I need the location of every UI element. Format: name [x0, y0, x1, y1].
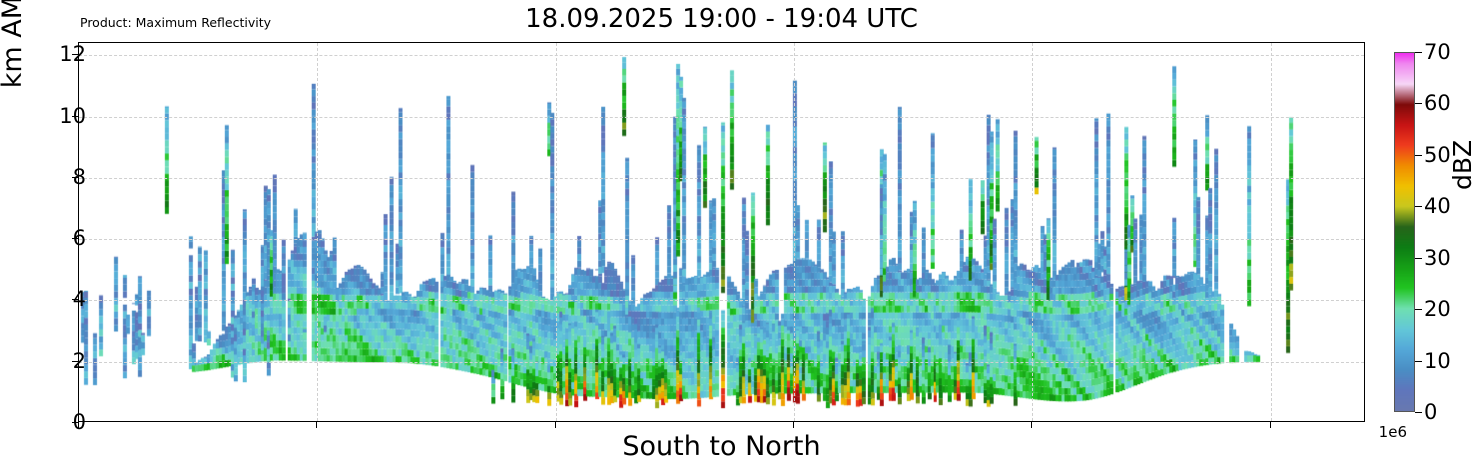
x-tick-mark — [793, 422, 794, 428]
colorbar-tick-mark — [1415, 206, 1422, 207]
y-tick-label-6: 6 — [73, 228, 86, 249]
plot-area — [78, 42, 1365, 422]
colorbar-tick-label-40: 40 — [1424, 196, 1451, 217]
y-tick-label-0: 0 — [73, 412, 86, 433]
colorbar-tick-mark — [1415, 361, 1422, 362]
y-tick-label-4: 4 — [73, 289, 86, 310]
colorbar-tick-label-50: 50 — [1424, 145, 1451, 166]
colorbar-tick-mark — [1415, 103, 1422, 104]
colorbar-gradient — [1395, 53, 1414, 411]
colorbar-tick-mark — [1415, 258, 1422, 259]
colorbar-tick-label-0: 0 — [1424, 402, 1437, 423]
colorbar-tick-label-20: 20 — [1424, 299, 1451, 320]
y-tick-label-2: 2 — [73, 351, 86, 372]
colorbar — [1394, 52, 1415, 412]
page-title: 18.09.2025 19:00 - 19:04 UTC — [78, 4, 1365, 34]
colorbar-tick-mark — [1415, 412, 1422, 413]
y-axis-label: km AMSL — [0, 0, 28, 126]
colorbar-tick-label-30: 30 — [1424, 248, 1451, 269]
x-tick-mark — [1031, 422, 1032, 428]
x-tick-mark — [78, 422, 79, 428]
x-tick-mark — [555, 422, 556, 428]
colorbar-tick-mark — [1415, 52, 1422, 53]
x-tick-mark — [1270, 422, 1271, 428]
colorbar-tick-mark — [1415, 155, 1422, 156]
colorbar-tick-label-60: 60 — [1424, 93, 1451, 114]
reflectivity-heatmap — [79, 43, 1364, 421]
y-tick-label-10: 10 — [59, 106, 86, 127]
colorbar-title: dBZ — [1449, 140, 1476, 190]
colorbar-tick-mark — [1415, 309, 1422, 310]
x-axis-label: South to North — [78, 432, 1365, 462]
x-axis-offset-label: 1e6 — [1379, 424, 1407, 441]
radar-cross-section-figure: Product: Maximum Reflectivity 18.09.2025… — [0, 0, 1482, 470]
x-tick-mark — [316, 422, 317, 428]
colorbar-tick-label-10: 10 — [1424, 351, 1451, 372]
y-tick-label-8: 8 — [73, 167, 86, 188]
y-tick-label-12: 12 — [59, 44, 86, 65]
colorbar-tick-label-70: 70 — [1424, 42, 1451, 63]
